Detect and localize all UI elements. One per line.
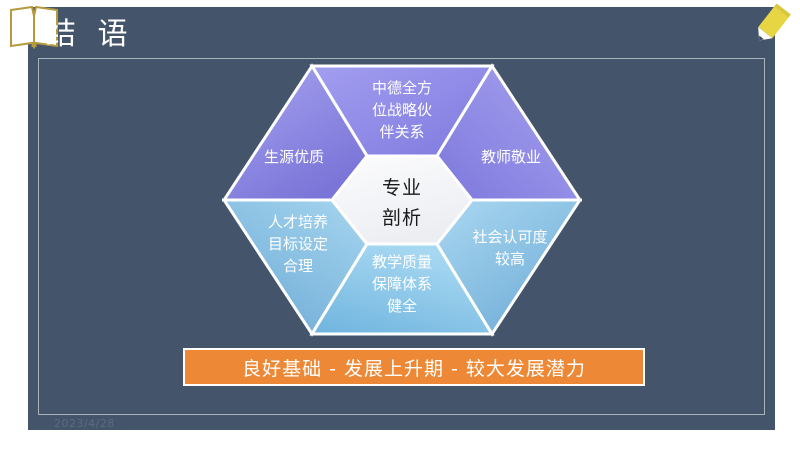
hex-segment-bottom-line2: 保障体系 (372, 275, 432, 293)
hex-segment-upper-right-line1: 教师敬业 (481, 148, 541, 166)
hex-center-line2: 剖析 (382, 207, 422, 229)
page-title: 结 语 (46, 17, 134, 53)
hex-segment-lower-right-line2: 较高 (495, 250, 525, 268)
conclusion-banner-text: 良好基础 - 发展上升期 - 较大发展潜力 (242, 354, 586, 381)
hex-segment-bottom-line3: 健全 (387, 297, 417, 315)
hex-segment-lower-left-line1: 人才培养 (268, 213, 328, 231)
hex-segment-top-line3: 伴关系 (379, 123, 424, 141)
hex-segment-lower-left-line2: 目标设定 (268, 235, 328, 253)
hex-segment-bottom-line1: 教学质量 (372, 253, 432, 271)
hex-center-line1: 专业 (382, 177, 422, 199)
hex-segment-upper-left-line1: 生源优质 (264, 148, 324, 166)
hex-segment-top-line1: 中德全方 (372, 79, 432, 97)
slide-canvas: 结 语 (0, 0, 800, 450)
hex-segment-lower-right-line1: 社会认可度 (472, 228, 547, 246)
hex-segment-lower-left-line3: 合理 (283, 257, 313, 275)
hex-segment-top-line2: 位战略伙 (372, 101, 432, 119)
date-stamp: 2023/4/28 (54, 417, 115, 430)
hexagon-diagram: 中德全方 位战略伙 伴关系 生源优质 教师敬业 人才培养 目标设定 合理 (222, 62, 582, 338)
pencil-icon (752, 4, 794, 48)
conclusion-banner: 良好基础 - 发展上升期 - 较大发展潜力 (183, 348, 645, 386)
